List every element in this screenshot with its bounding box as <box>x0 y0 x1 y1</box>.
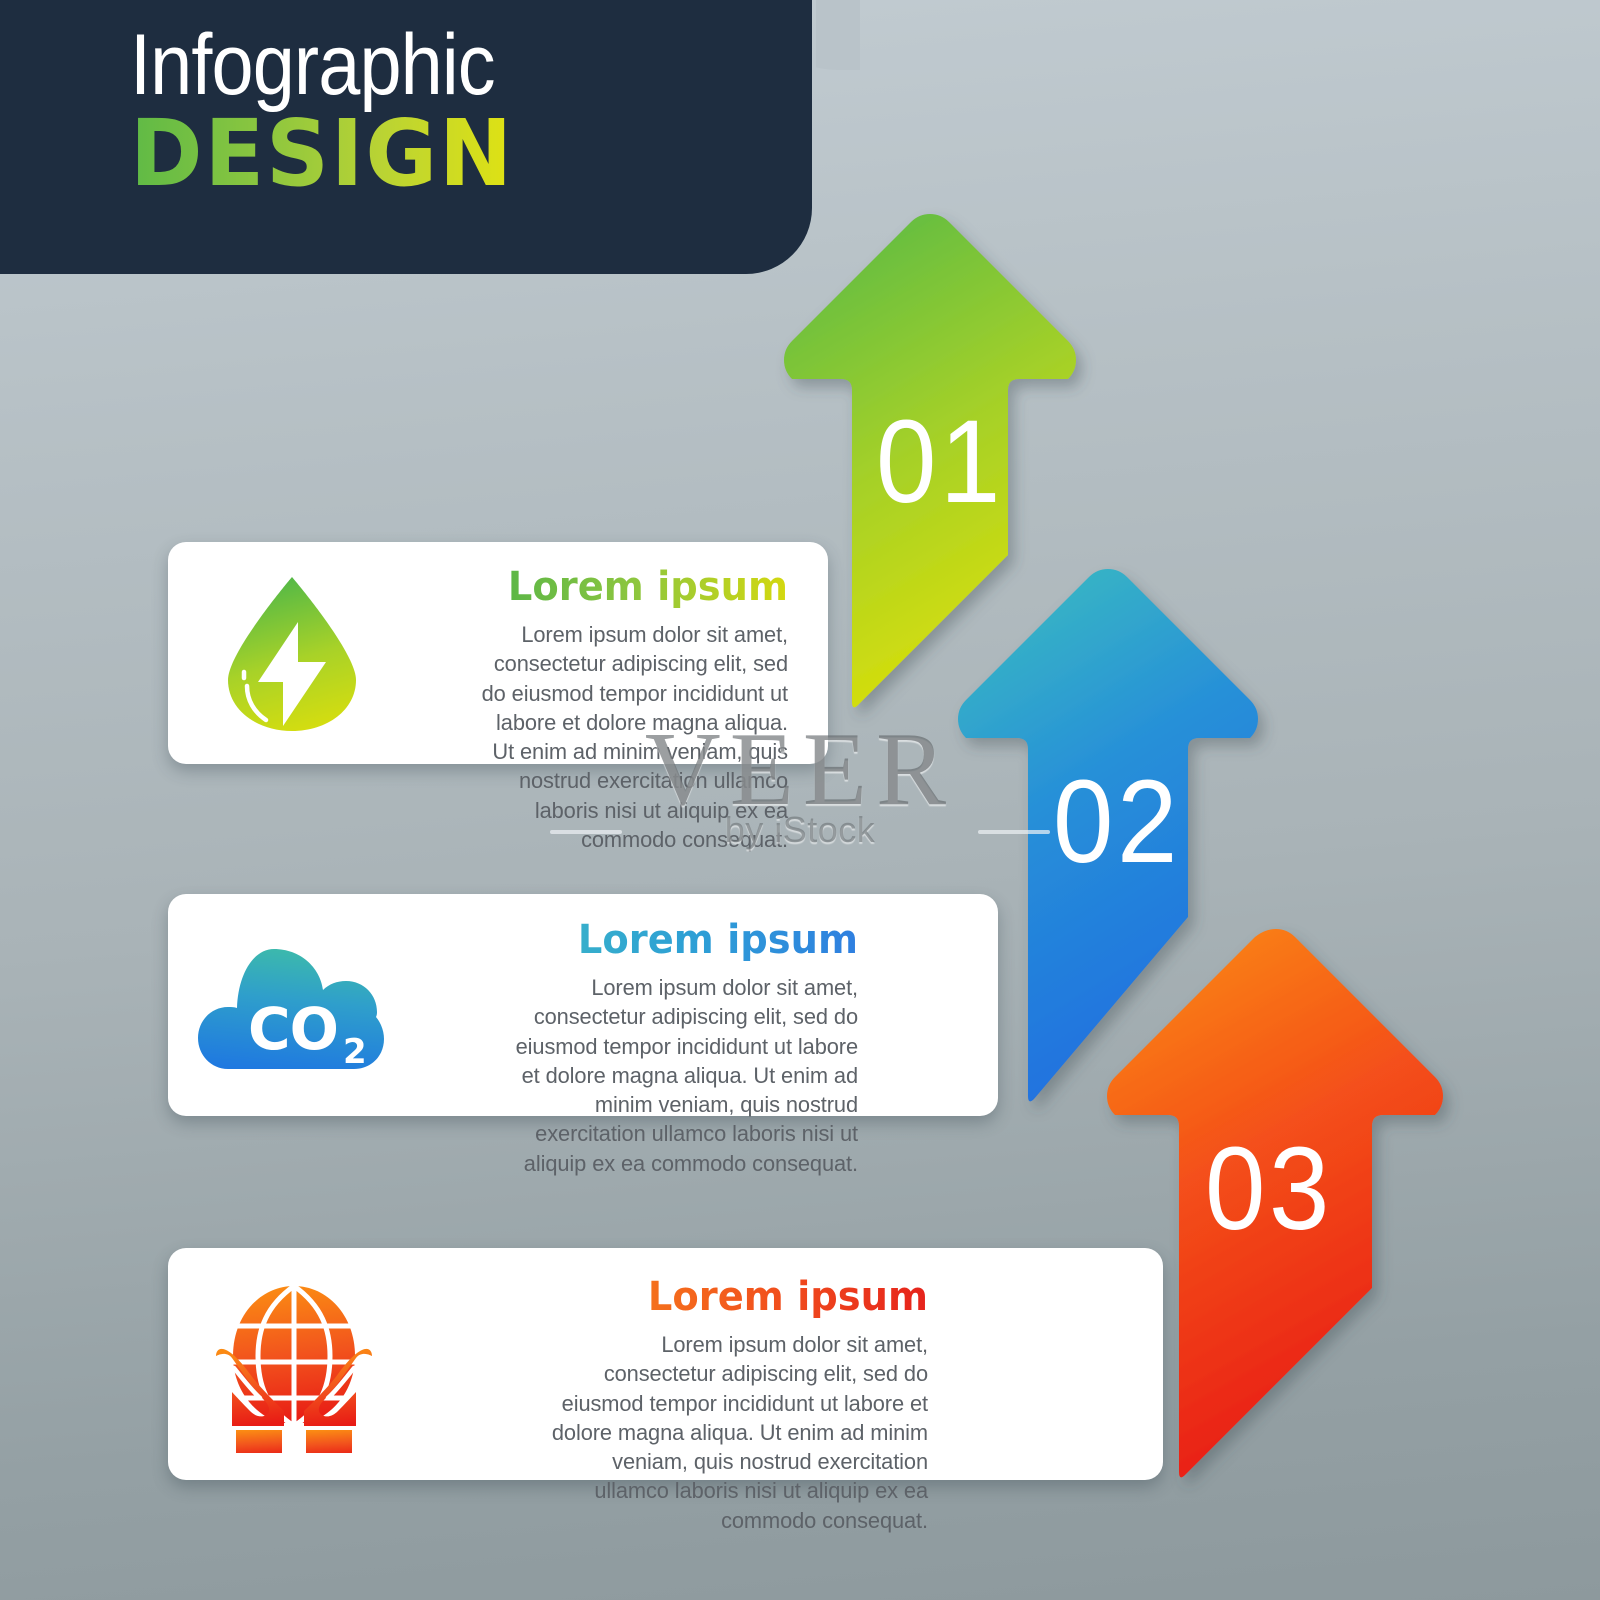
info-card-1-title: Lorem ipsum <box>481 566 788 608</box>
info-card-3-body: Lorem ipsum dolor sit amet, consectetur … <box>550 1330 928 1535</box>
water-drop-energy-icon <box>212 574 372 734</box>
info-card-2-text: Lorem ipsum Lorem ipsum dolor sit amet, … <box>498 919 858 1178</box>
info-card-2-body: Lorem ipsum dolor sit amet, consectetur … <box>509 973 858 1178</box>
header-banner: Infographic DESIGN <box>0 0 812 274</box>
step-number-01: 01 <box>876 403 1004 521</box>
info-card-3[interactable]: Lorem ipsum Lorem ipsum dolor sit amet, … <box>168 1248 1163 1480</box>
svg-text:CO: CO <box>248 995 338 1063</box>
step-number-03: 03 <box>1205 1130 1333 1248</box>
page-title-secondary: DESIGN <box>130 108 514 200</box>
info-card-2[interactable]: CO 2 Lorem ipsum Lorem ipsum dolor sit a… <box>168 894 998 1116</box>
info-card-1-body: Lorem ipsum dolor sit amet, consectetur … <box>478 620 788 854</box>
svg-text:2: 2 <box>343 1032 367 1071</box>
step-number-02: 02 <box>1053 763 1181 881</box>
info-card-3-title: Lorem ipsum <box>554 1276 928 1318</box>
page-title-primary: Infographic <box>130 22 495 108</box>
info-card-1[interactable]: Lorem ipsum Lorem ipsum dolor sit amet, … <box>168 542 828 764</box>
info-card-2-title: Lorem ipsum <box>512 919 858 961</box>
globe-in-hands-icon <box>206 1278 381 1453</box>
info-card-3-text: Lorem ipsum Lorem ipsum dolor sit amet, … <box>538 1276 928 1535</box>
info-card-1-text: Lorem ipsum Lorem ipsum dolor sit amet, … <box>468 566 788 854</box>
infographic-canvas: Infographic DESIGN 01 <box>0 0 1600 1600</box>
co2-cloud-icon: CO 2 <box>196 942 386 1072</box>
